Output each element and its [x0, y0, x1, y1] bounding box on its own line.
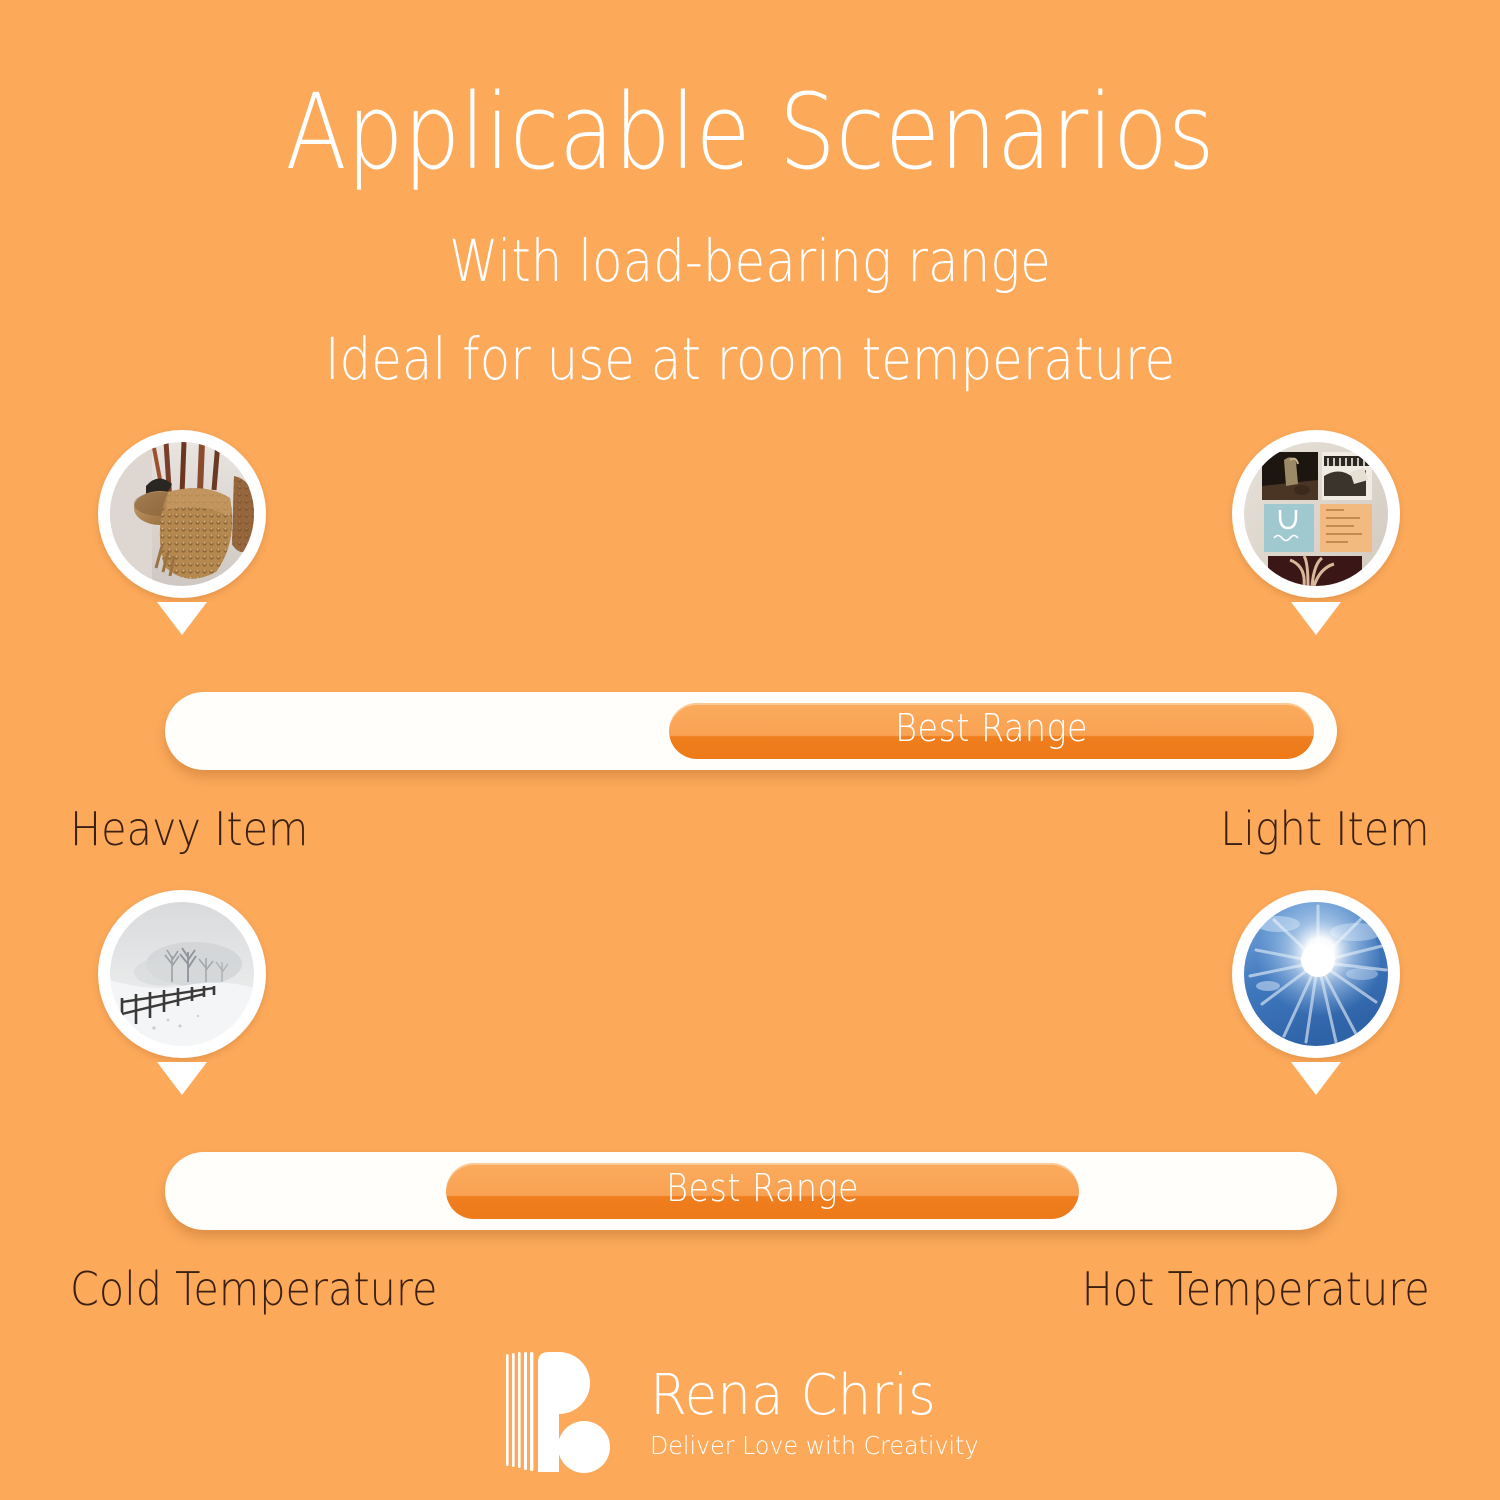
woven-bags-photo-icon [110, 442, 254, 586]
brand-lockup: Rena Chris Deliver Love with Creativity [0, 1352, 1500, 1474]
slider-label-cold-temperature: Cold Temperature [70, 1262, 437, 1316]
brand-tagline: Deliver Love with Creativity [650, 1432, 979, 1460]
badge-cold-temperature[interactable] [98, 890, 266, 1058]
snow-landscape-photo-icon [110, 902, 254, 1046]
sun-sky-photo-icon [1244, 902, 1388, 1046]
slider-track-load[interactable]: Best Range [165, 692, 1337, 770]
slider-fill-label: Best Range [895, 706, 1088, 750]
wall-collage-photo-icon [1244, 442, 1388, 586]
slider-fill-best-range-temperature[interactable]: Best Range [446, 1163, 1079, 1219]
slider-fill-label: Best Range [666, 1166, 859, 1210]
rena-chris-logo-icon [504, 1352, 624, 1474]
badge-light-item[interactable] [1232, 430, 1400, 598]
badge-heavy-item[interactable] [98, 430, 266, 598]
slider-fill-best-range-load[interactable]: Best Range [669, 703, 1314, 759]
badge-hot-temperature[interactable] [1232, 890, 1400, 1058]
page-subtitle-secondary: Ideal for use at room temperature [105, 330, 1395, 388]
slider-track-temperature[interactable]: Best Range [165, 1152, 1337, 1230]
brand-text-block: Rena Chris Deliver Love with Creativity [650, 1367, 996, 1460]
down-triangle-icon [157, 602, 207, 635]
page-title: Applicable Scenarios [105, 80, 1395, 184]
down-triangle-icon [1291, 1062, 1341, 1095]
brand-name: Rena Chris [650, 1367, 979, 1424]
down-triangle-icon [1291, 602, 1341, 635]
down-triangle-icon [157, 1062, 207, 1095]
page-subtitle-primary: With load-bearing range [105, 232, 1395, 290]
infographic-canvas: Applicable Scenarios With load-bearing r… [0, 0, 1500, 1500]
slider-label-heavy-item: Heavy Item [70, 802, 308, 856]
header-block: Applicable Scenarios With load-bearing r… [0, 0, 1500, 388]
slider-label-light-item: Light Item [1221, 802, 1430, 856]
slider-label-hot-temperature: Hot Temperature [1082, 1262, 1430, 1316]
